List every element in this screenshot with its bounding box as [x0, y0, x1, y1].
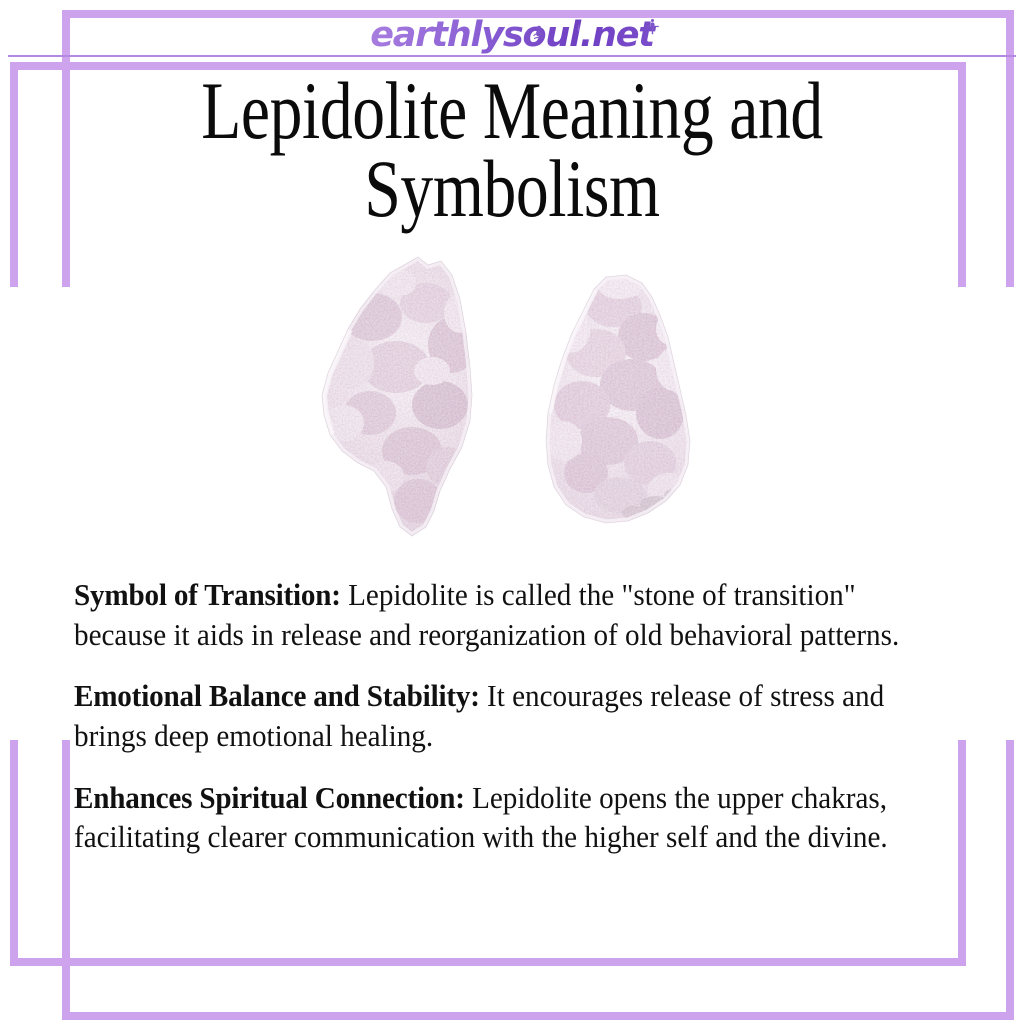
frame-inner-bottom [62, 1012, 1014, 1020]
paragraph-lead: Emotional Balance and Stability: [74, 679, 480, 713]
body-copy: Symbol of Transition: Lepidolite is call… [74, 576, 960, 858]
site-logo[interactable]: earthlysoul.net [0, 18, 1024, 56]
lepidolite-crystal-right [510, 273, 740, 538]
logo-tick-icon [575, 22, 582, 36]
paragraph-emotional-balance: Emotional Balance and Stability: It enco… [74, 677, 920, 756]
frame-outer-left-upper [10, 62, 18, 287]
paragraph-spiritual-connection: Enhances Spiritual Connection: Lepidolit… [74, 779, 920, 858]
frame-outer-left-lower [10, 740, 18, 966]
crystal-image-group [300, 255, 740, 540]
frame-outer-bottom [10, 958, 966, 966]
page-title-line-2: Symbolism [364, 143, 659, 234]
lepidolite-crystal-left [300, 255, 530, 540]
meditating-figure-icon [531, 23, 547, 46]
frame-inner-right-lower [1006, 740, 1014, 1020]
page-title: Lepidolite Meaning and Symbolism [150, 72, 873, 228]
poster-canvas: earthlysoul.net Lepidolite Meaning and S… [0, 0, 1024, 1024]
logo-flourish-icon [645, 16, 660, 40]
paragraph-lead: Symbol of Transition: [74, 578, 341, 612]
frame-inner-left-lower [62, 740, 70, 1020]
paragraph-lead: Enhances Spiritual Connection: [74, 781, 465, 815]
site-logo-text: earthlysoul.net [366, 18, 658, 56]
logo-underline [8, 55, 1016, 57]
paragraph-symbol-of-transition: Symbol of Transition: Lepidolite is call… [74, 576, 920, 655]
frame-outer-right-upper [958, 62, 966, 287]
